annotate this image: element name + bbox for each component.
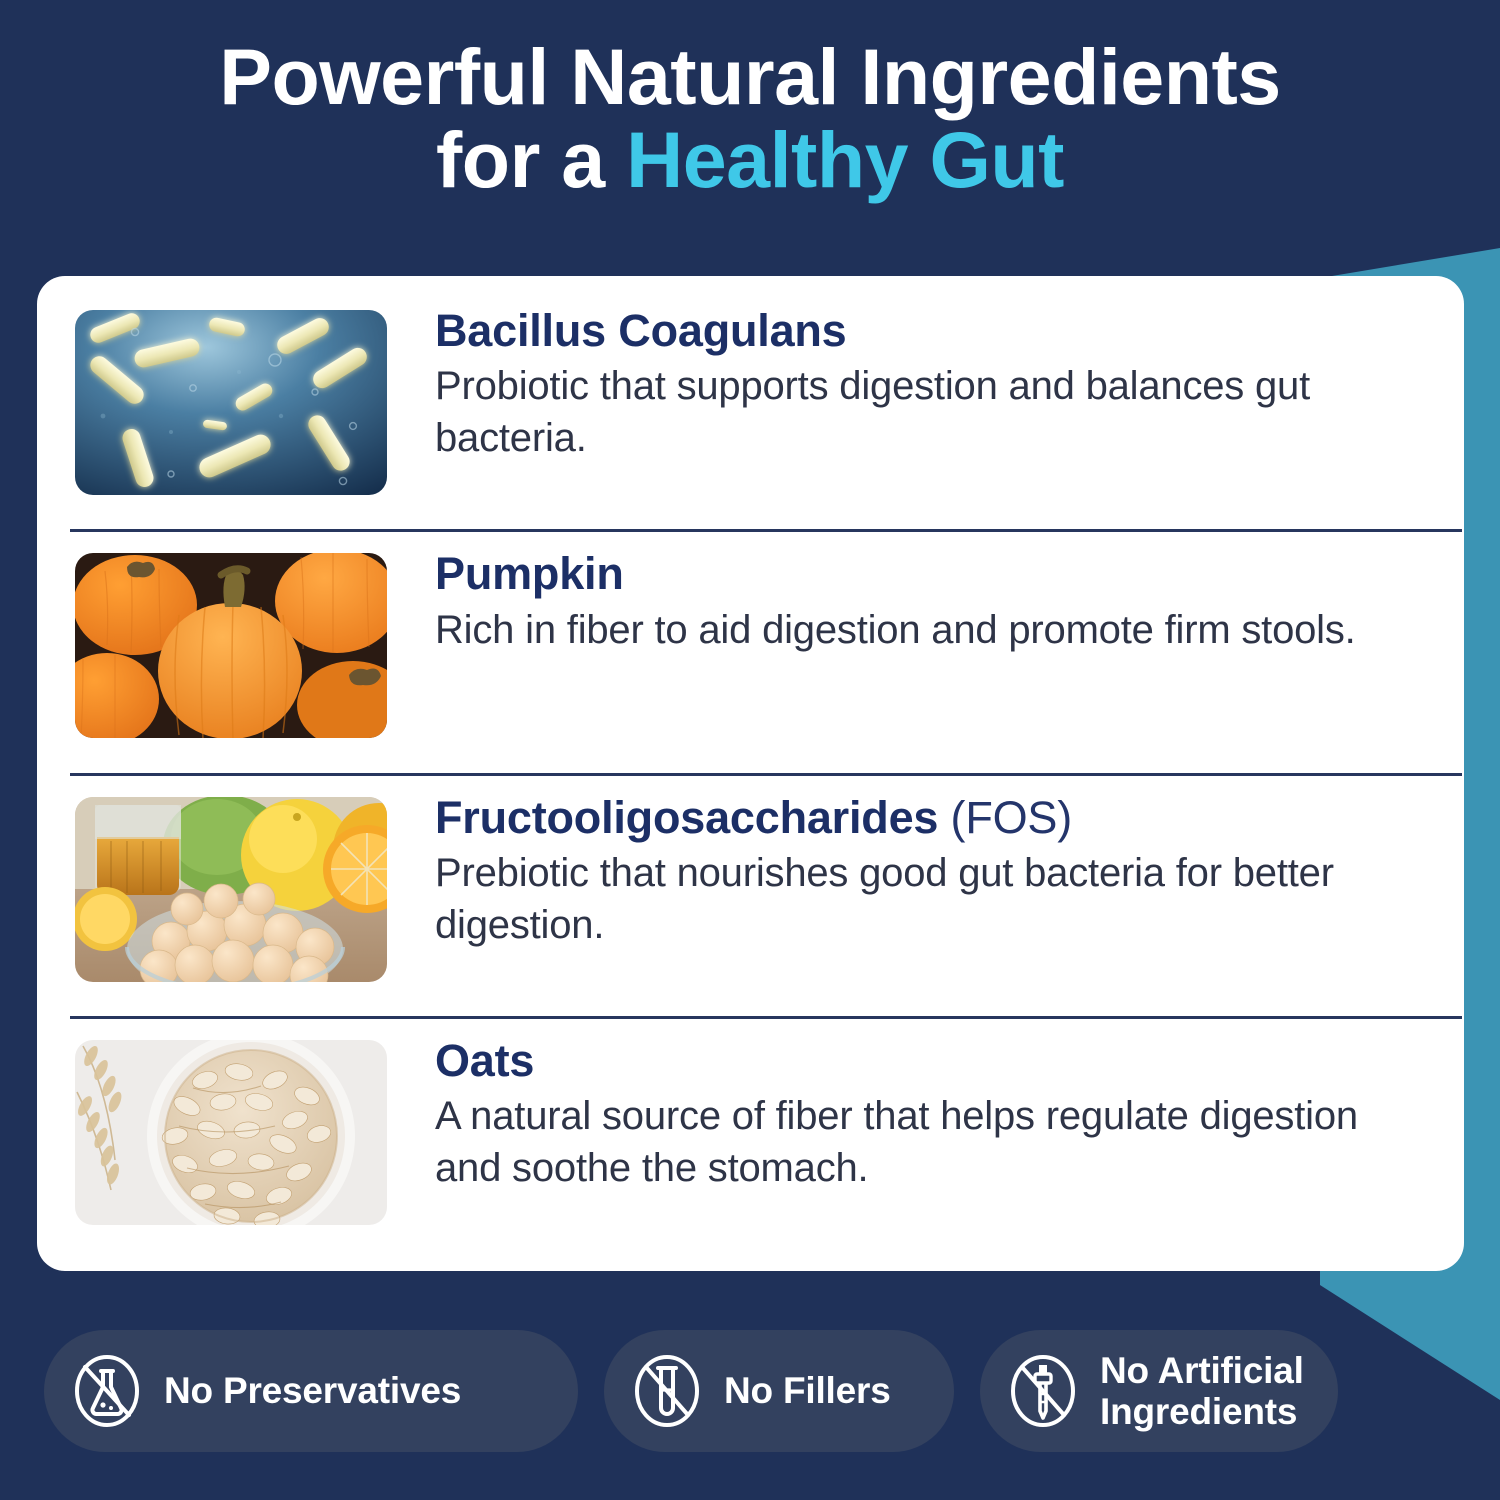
title-accent: Healthy Gut xyxy=(626,115,1064,204)
fos-image xyxy=(75,797,387,982)
no-test-tube-icon xyxy=(630,1354,704,1428)
no-dropper-icon xyxy=(1006,1354,1080,1428)
ingredients-card: Bacillus Coagulans Probiotic that suppor… xyxy=(37,276,1464,1271)
badge-no-preservatives: No Preservatives xyxy=(44,1330,578,1452)
ingredient-row: Oats A natural source of fiber that help… xyxy=(37,1016,1464,1259)
pumpkin-image xyxy=(75,553,387,738)
ingredient-row: Bacillus Coagulans Probiotic that suppor… xyxy=(37,286,1464,529)
ingredient-row: Pumpkin Rich in fiber to aid digestion a… xyxy=(37,529,1464,772)
badge-label: No Artificial Ingredients xyxy=(1100,1350,1304,1433)
page-title: Powerful Natural Ingredients for a Healt… xyxy=(0,38,1500,199)
ingredient-row: Fructooligosaccharides (FOS) Prebiotic t… xyxy=(37,773,1464,1016)
ingredient-title: Oats xyxy=(435,1036,1426,1086)
ingredient-name: Bacillus Coagulans xyxy=(435,305,847,356)
ingredient-name: Oats xyxy=(435,1035,534,1086)
oats-image xyxy=(75,1040,387,1225)
ingredient-description: Probiotic that supports digestion and ba… xyxy=(435,360,1426,464)
badge-label: No Fillers xyxy=(724,1370,891,1411)
badge-label: No Preservatives xyxy=(164,1370,461,1411)
ingredient-description: A natural source of fiber that helps reg… xyxy=(435,1090,1426,1194)
ingredient-name-suffix: (FOS) xyxy=(938,792,1072,843)
ingredient-name: Pumpkin xyxy=(435,548,624,599)
ingredient-title: Bacillus Coagulans xyxy=(435,306,1426,356)
trust-badges: No Preservatives No Fillers xyxy=(44,1330,1456,1452)
badge-no-fillers: No Fillers xyxy=(604,1330,954,1452)
title-line-2: for a Healthy Gut xyxy=(60,121,1440,198)
ingredient-description: Rich in fiber to aid digestion and promo… xyxy=(435,604,1426,656)
promo-infographic: Powerful Natural Ingredients for a Healt… xyxy=(0,0,1500,1500)
bacillus-coagulans-image xyxy=(75,310,387,495)
no-flask-icon xyxy=(70,1354,144,1428)
ingredient-name: Fructooligosaccharides xyxy=(435,792,938,843)
title-line-1: Powerful Natural Ingredients xyxy=(60,38,1440,115)
ingredient-description: Prebiotic that nourishes good gut bacter… xyxy=(435,847,1426,951)
ingredient-title: Fructooligosaccharides (FOS) xyxy=(435,793,1426,843)
title-prefix: for a xyxy=(436,115,626,204)
badge-no-artificial-ingredients: No Artificial Ingredients xyxy=(980,1330,1338,1452)
ingredient-title: Pumpkin xyxy=(435,549,1426,599)
